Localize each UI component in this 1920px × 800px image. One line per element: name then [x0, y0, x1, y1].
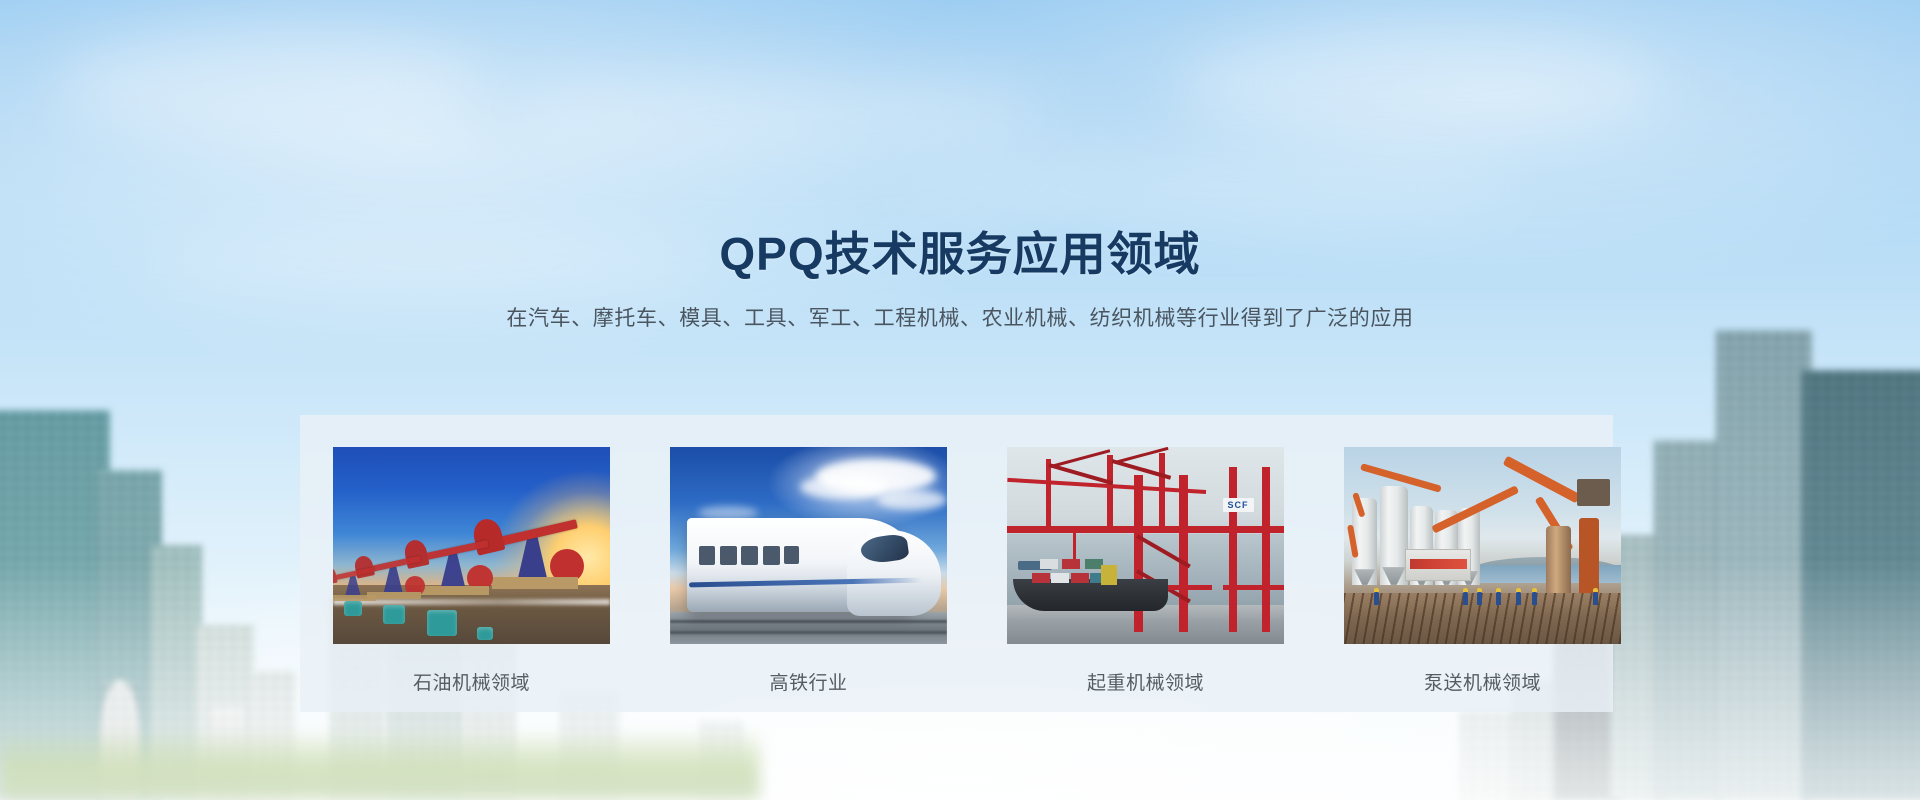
pumpjack [333, 561, 378, 601]
worker [1374, 592, 1379, 605]
crane-leg [1179, 475, 1188, 633]
wellhead-valve [427, 610, 457, 636]
page-title: QPQ技术服务应用领域 [0, 228, 1920, 280]
rebar-grid [1344, 593, 1621, 644]
cloud [60, 30, 480, 140]
cloud [1180, 24, 1660, 144]
container [1051, 573, 1069, 583]
foliage [0, 730, 760, 800]
cloud [800, 475, 886, 499]
crane-hoist-cable [1073, 530, 1076, 562]
card-caption: 泵送机械领域 [1344, 668, 1621, 695]
application-card-oil[interactable]: 石油机械领域 [333, 447, 610, 695]
cement-silo [1380, 486, 1408, 585]
building [1460, 710, 1520, 800]
site-cabin [1405, 549, 1471, 581]
applications-panel: 石油机械领域 [300, 415, 1613, 712]
container [1085, 559, 1103, 569]
crane-logo: SCF [1223, 498, 1254, 512]
container-ship [1013, 579, 1168, 611]
high-speed-train-photo[interactable] [670, 447, 947, 644]
cloud [520, 70, 1040, 160]
wellhead-valve [344, 601, 362, 616]
container [1040, 559, 1058, 569]
container [1101, 565, 1117, 585]
worker [1496, 592, 1501, 605]
container [1071, 573, 1089, 583]
card-caption: 高铁行业 [670, 668, 947, 695]
card-caption: 起重机械领域 [1007, 668, 1284, 695]
worker [1532, 592, 1537, 605]
building [1654, 440, 1724, 800]
worker [1477, 592, 1482, 605]
card-caption: 石油机械领域 [333, 668, 610, 695]
wellhead-valve [477, 627, 493, 640]
crane-leg [1229, 467, 1237, 632]
cloud [900, 150, 1520, 230]
application-card-train[interactable]: 高铁行业 [670, 447, 947, 695]
crane-leg [1262, 467, 1270, 632]
building [1716, 330, 1812, 800]
wellhead-valve [383, 605, 405, 624]
page-subtitle: 在汽车、摩托车、模具、工具、军工、工程机械、农业机械、纺织机械等行业得到了广泛的… [0, 302, 1920, 332]
concrete-pump-photo[interactable] [1344, 447, 1621, 644]
banner [1410, 559, 1467, 569]
building [1802, 370, 1920, 800]
worker [1593, 592, 1598, 605]
oil-pumpjacks-photo[interactable] [333, 447, 610, 644]
worker [1463, 592, 1468, 605]
quay [1007, 605, 1284, 644]
cloud [877, 490, 947, 510]
application-card-pump[interactable]: 泵送机械领域 [1344, 447, 1621, 695]
railway-track [670, 612, 947, 644]
crane-apex [1159, 453, 1165, 530]
crane-apex [1107, 455, 1113, 530]
crane-apex [1046, 459, 1051, 530]
pump-control-box [1577, 479, 1610, 507]
port-gantry-cranes-photo[interactable]: SCF [1007, 447, 1284, 644]
worker [1516, 592, 1521, 605]
container [1062, 559, 1080, 569]
application-card-list: 石油机械领域 [333, 447, 1621, 695]
application-card-crane[interactable]: SCF 起重机械领域 [1007, 447, 1284, 695]
container [1032, 573, 1050, 583]
heading-block: QPQ技术服务应用领域 在汽车、摩托车、模具、工具、军工、工程机械、农业机械、纺… [0, 228, 1920, 332]
